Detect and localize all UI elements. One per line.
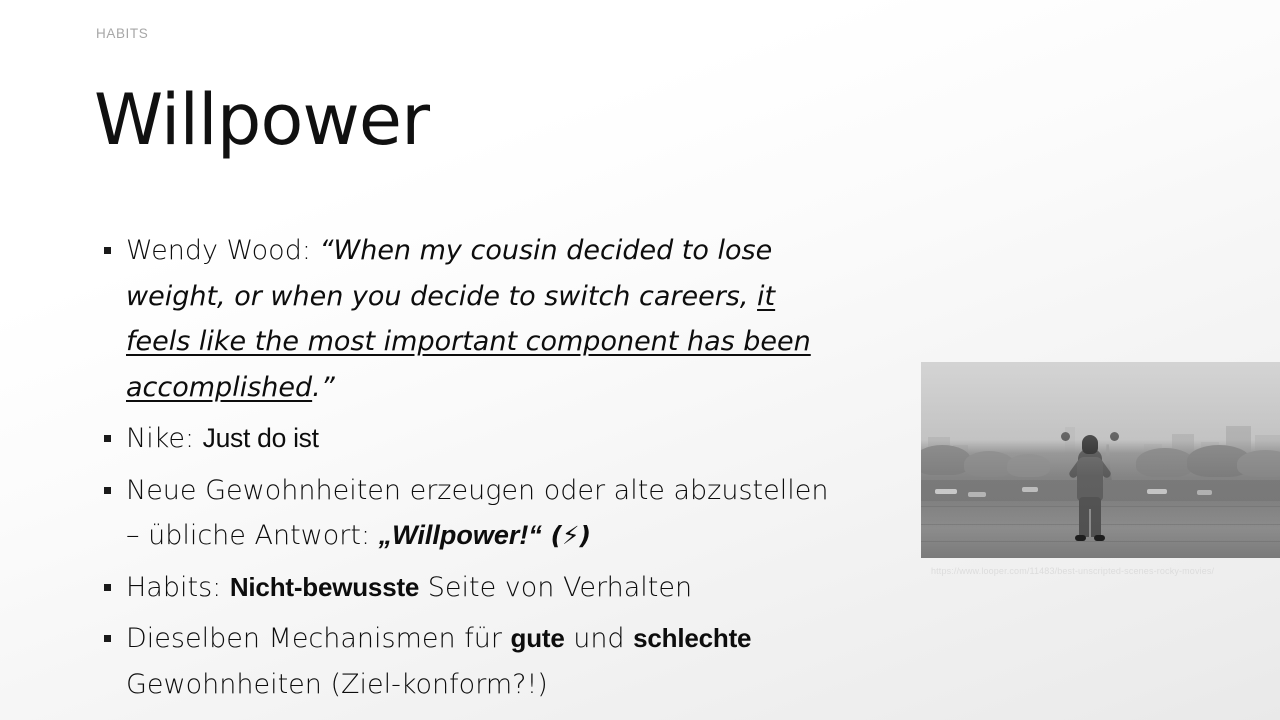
bullet-text-2: Neue Gewohnheiten erzeugen oder alte abz… bbox=[126, 475, 828, 552]
bullet-segment-tail: Gewohnheiten (Ziel-konform?!) bbox=[126, 669, 548, 700]
bullet-text-1: Nike: Just do ist bbox=[126, 423, 319, 454]
bullet-segment: Habits: bbox=[126, 572, 230, 603]
photo-figure-arms-raised bbox=[1061, 431, 1119, 543]
bullet-text-3: Habits: Nicht-bewusste Seite von Verhalt… bbox=[126, 572, 692, 603]
rocky-victory-photo bbox=[921, 362, 1280, 558]
bullet-text-4: Dieselben Mechanismen für gute und schle… bbox=[126, 623, 751, 700]
list-item: Nike: Just do ist bbox=[100, 416, 830, 462]
slide-kicker: HABITS bbox=[96, 26, 148, 41]
bullet-segment: Nike: bbox=[126, 423, 203, 454]
bullet-segment-tail: Seite von Verhalten bbox=[419, 572, 692, 603]
page-title: Willpower bbox=[94, 85, 429, 155]
bullet-segment-bold: Nicht-bewusste bbox=[230, 572, 419, 602]
bullet-segment-emphasis: Just do ist bbox=[203, 423, 319, 453]
bullet-marker-icon bbox=[104, 635, 111, 642]
bullet-marker-icon bbox=[104, 584, 111, 591]
bullet-marker-icon bbox=[104, 247, 111, 254]
presentation-slide: HABITS Willpower Wendy Wood: “When my co… bbox=[0, 0, 1280, 720]
list-item: Dieselben Mechanismen für gute und schle… bbox=[100, 616, 830, 707]
lightning-bolt-icon: (⚡) bbox=[542, 521, 591, 550]
bullet-marker-icon bbox=[104, 487, 111, 494]
list-item: Habits: Nicht-bewusste Seite von Verhalt… bbox=[100, 565, 830, 611]
bullet-list: Wendy Wood: “When my cousin decided to l… bbox=[100, 228, 830, 713]
bullet-segment: Wendy Wood: bbox=[126, 235, 320, 266]
list-item: Neue Gewohnheiten erzeugen oder alte abz… bbox=[100, 468, 830, 559]
bullet-text-0: Wendy Wood: “When my cousin decided to l… bbox=[126, 235, 811, 403]
bullet-marker-icon bbox=[104, 435, 111, 442]
bullet-segment-bold-gute: gute bbox=[511, 623, 565, 653]
bullet-segment: Dieselben Mechanismen für bbox=[126, 623, 511, 654]
bullet-segment-italic-end: .” bbox=[312, 372, 335, 403]
bullet-segment-bold-schlechte: schlechte bbox=[633, 623, 751, 653]
list-item: Wendy Wood: “When my cousin decided to l… bbox=[100, 228, 830, 410]
bullet-segment-mid: und bbox=[565, 623, 634, 654]
image-source-caption: https://www.looper.com/11483/best-unscri… bbox=[931, 566, 1214, 576]
bullet-segment-bold-italic: „Willpower!“ bbox=[379, 520, 542, 550]
slide-image bbox=[921, 362, 1280, 558]
